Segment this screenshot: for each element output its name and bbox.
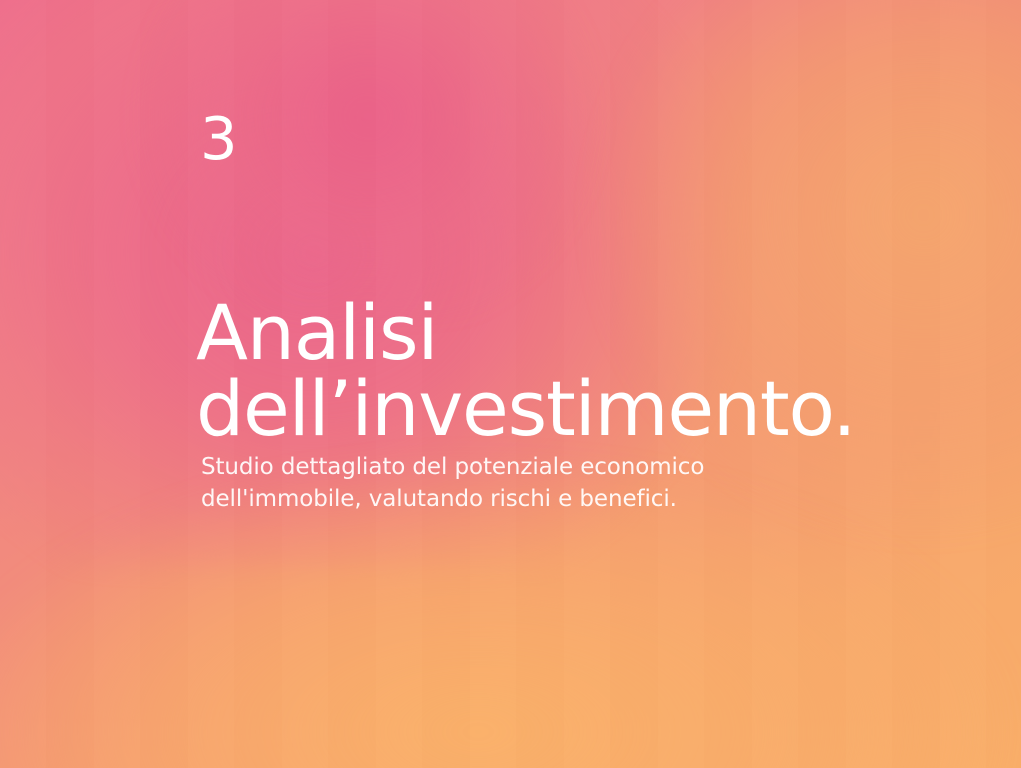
page-subtitle: Studio dettagliato del potenziale econom… — [201, 451, 704, 515]
page-title: Analisi dell’investimento. — [196, 295, 855, 447]
page-subtitle-line-2: dell'immobile, valutando rischi e benefi… — [201, 483, 704, 515]
page-title-line-1: Analisi — [196, 295, 855, 371]
page-subtitle-line-1: Studio dettagliato del potenziale econom… — [201, 451, 704, 483]
slide-content: 3 Analisi dell’investimento. Studio dett… — [200, 0, 940, 768]
page-title-line-2: dell’investimento. — [196, 371, 855, 447]
presentation-slide: 3 Analisi dell’investimento. Studio dett… — [0, 0, 1021, 768]
section-number: 3 — [200, 109, 238, 168]
